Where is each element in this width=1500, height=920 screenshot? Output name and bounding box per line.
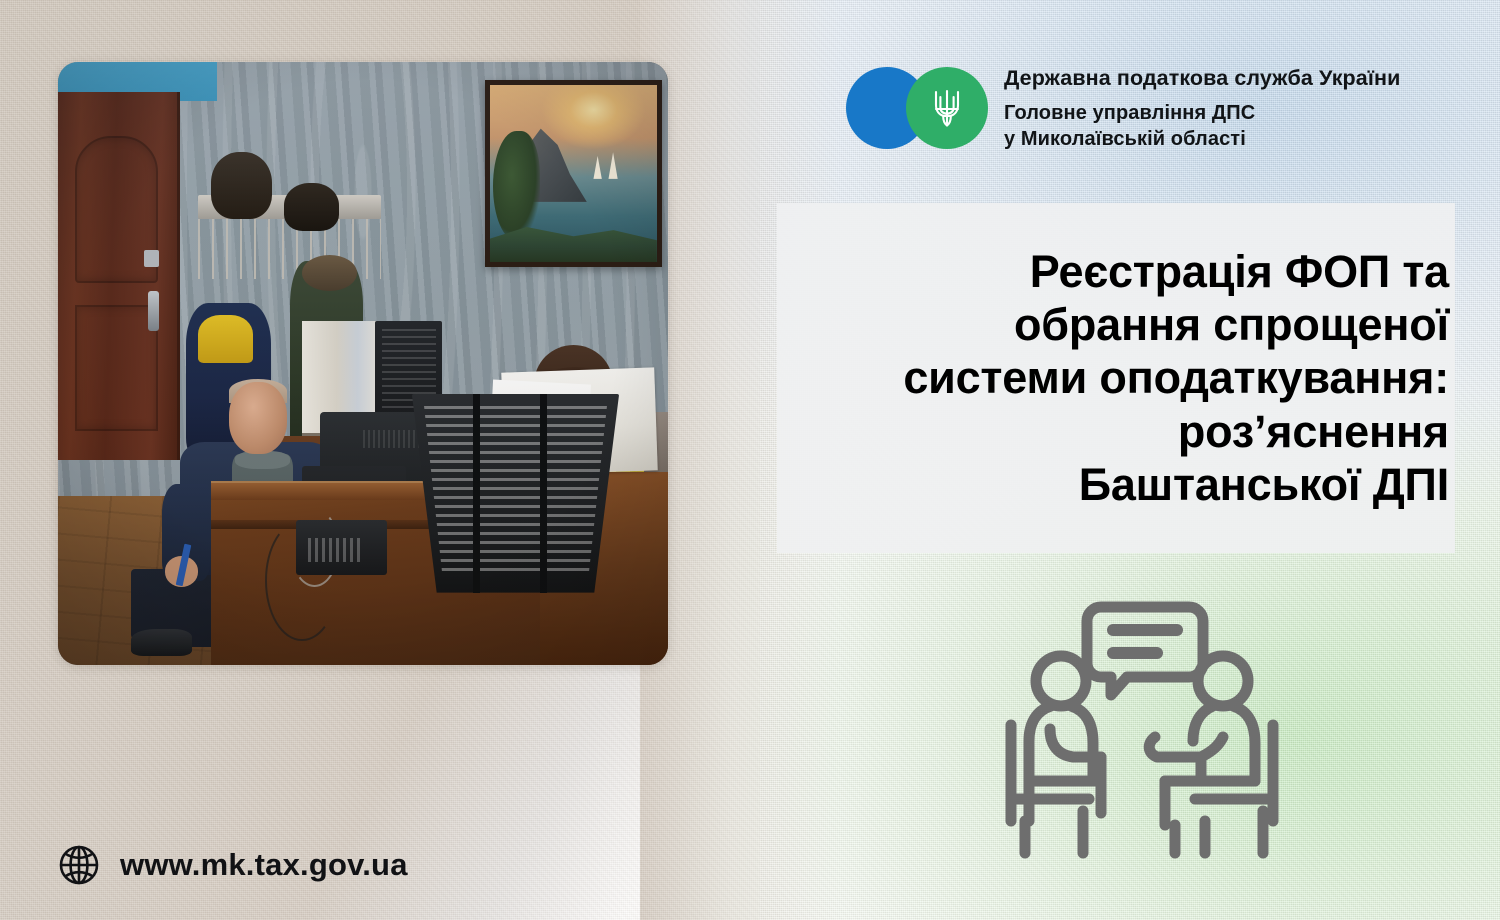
office-photo-content bbox=[58, 62, 668, 665]
poster-canvas: Державна податкова служба України Головн… bbox=[0, 0, 1500, 920]
green-circle-icon bbox=[906, 67, 988, 149]
globe-icon bbox=[57, 843, 101, 887]
title-panel: Реєстрація ФОП та обрання спрощеної сист… bbox=[777, 203, 1455, 553]
website-footer[interactable]: www.mk.tax.gov.ua bbox=[57, 843, 408, 887]
org-title-national: Державна податкова служба України bbox=[1004, 64, 1400, 94]
photo-vignette bbox=[58, 62, 668, 665]
speech-bubble-icon bbox=[1087, 607, 1203, 695]
page-title: Реєстрація ФОП та обрання спрощеної сист… bbox=[785, 245, 1449, 510]
org-title-department: Головне управління ДПС bbox=[1004, 100, 1400, 126]
dps-logo bbox=[846, 60, 986, 156]
website-url[interactable]: www.mk.tax.gov.ua bbox=[120, 847, 408, 883]
organization-header: Державна податкова служба України Головн… bbox=[846, 60, 1400, 156]
consultation-illustration bbox=[1005, 585, 1295, 875]
org-title-region: у Миколаївській області bbox=[1004, 126, 1400, 152]
organization-name-block: Державна податкова служба України Головн… bbox=[1004, 64, 1400, 152]
ukraine-trident-icon bbox=[930, 86, 964, 130]
office-photo bbox=[58, 62, 668, 665]
